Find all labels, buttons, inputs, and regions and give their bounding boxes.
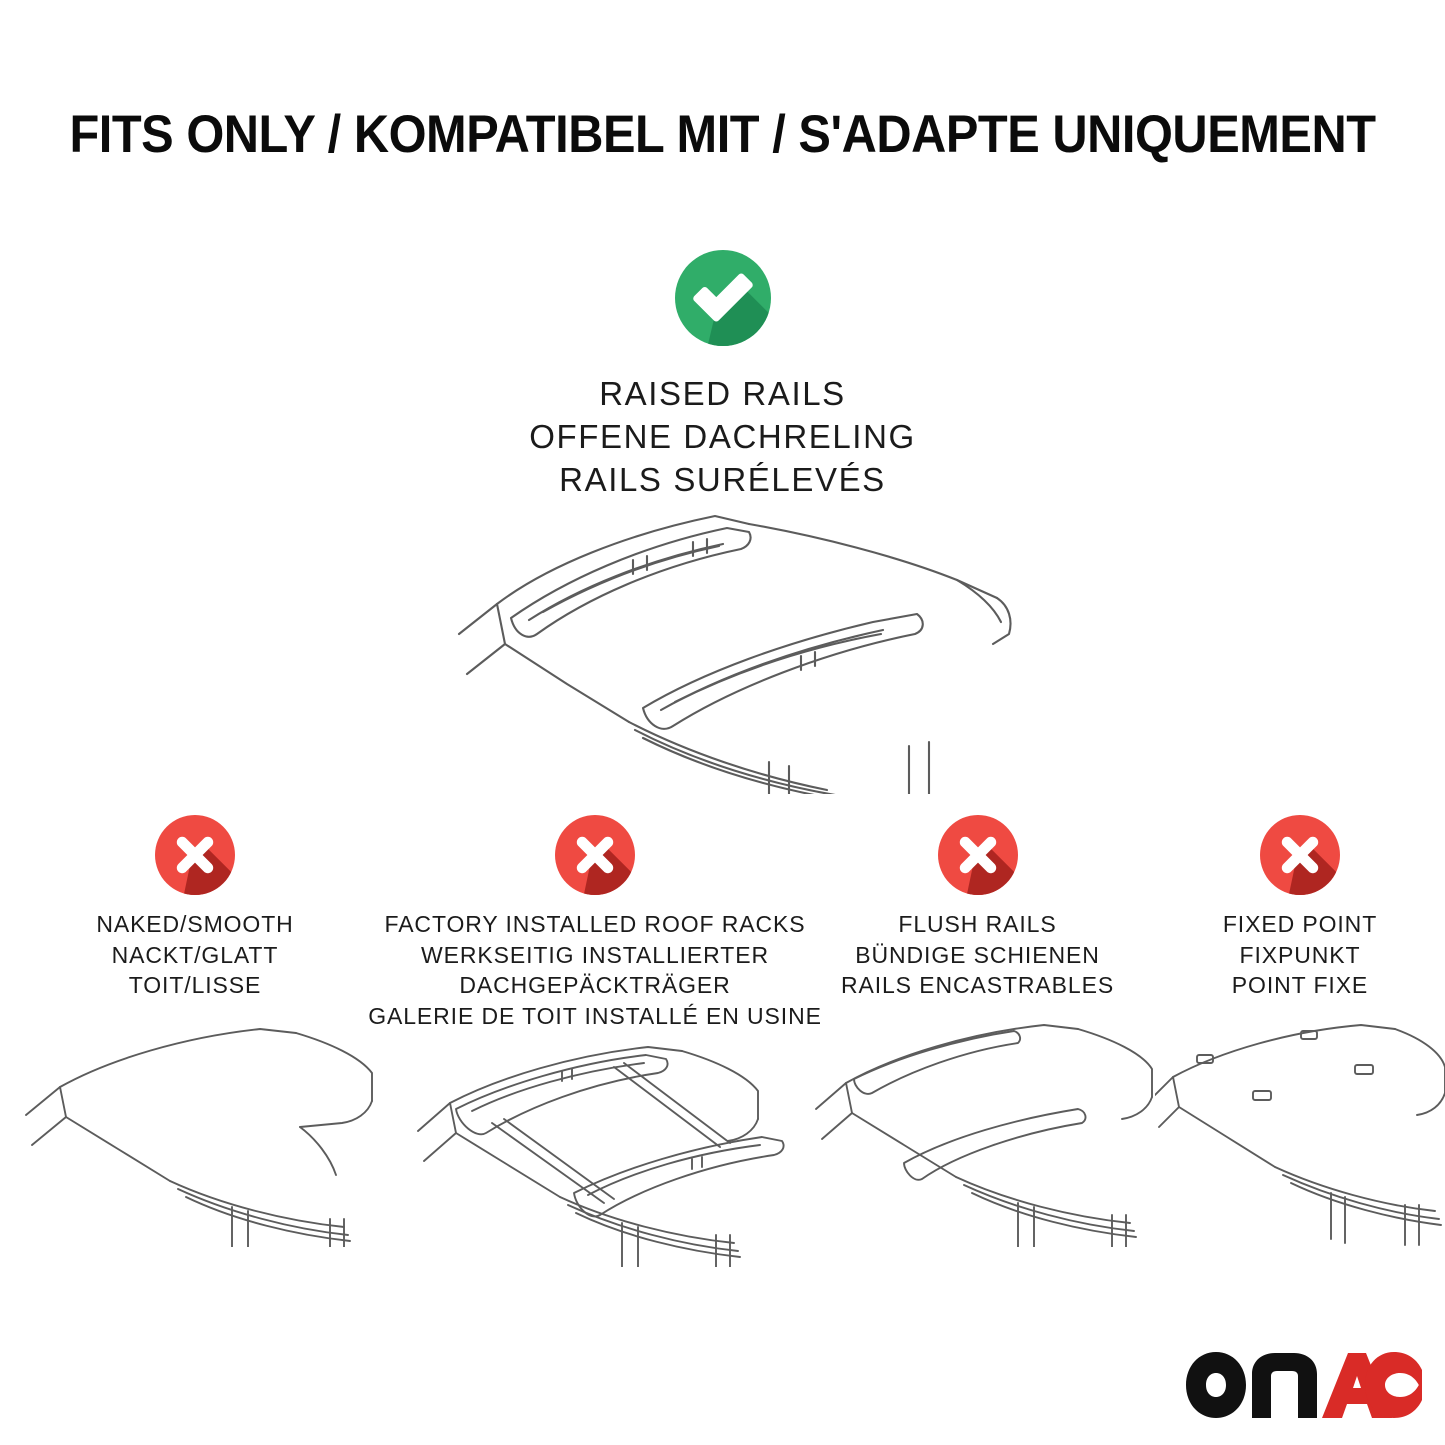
approved-label-en: RAISED RAILS — [529, 372, 916, 415]
rejected-labels-naked-smooth: NAKED/SMOOTH NACKT/GLATT TOIT/LISSE — [96, 909, 293, 1001]
omac-logo — [1186, 1352, 1422, 1418]
x-circle-icon — [1260, 815, 1340, 895]
rejected-label-fr: RAILS ENCASTRABLES — [841, 970, 1114, 1001]
rejected-label-de: NACKT/GLATT — [96, 940, 293, 971]
rejected-label-de: FIXPUNKT — [1223, 940, 1377, 971]
rejected-labels-flush-rails: FLUSH RAILS BÜNDIGE SCHIENEN RAILS ENCAS… — [841, 909, 1114, 1001]
rejected-section-fixed-point: FIXED POINT FIXPUNKT POINT FIXE — [1155, 815, 1445, 1247]
rejected-label-en: FIXED POINT — [1223, 909, 1377, 940]
page-title: FITS ONLY / KOMPATIBEL MIT / S'ADAPTE UN… — [58, 104, 1387, 165]
rejected-section-flush-rails: FLUSH RAILS BÜNDIGE SCHIENEN RAILS ENCAS… — [800, 815, 1155, 1247]
rejected-label-fr: GALERIE DE TOIT INSTALLÉ EN USINE — [368, 1001, 822, 1032]
x-circle-icon — [155, 815, 235, 895]
rejected-labels-fixed-point: FIXED POINT FIXPUNKT POINT FIXE — [1223, 909, 1377, 1001]
car-roof-fixed-point-illustration — [1155, 1017, 1445, 1247]
rejected-label-en: FACTORY INSTALLED ROOF RACKS — [368, 909, 822, 940]
car-roof-with-raised-rails-illustration — [397, 494, 1037, 794]
x-circle-icon — [555, 815, 635, 895]
rejected-labels-factory-roof-racks: FACTORY INSTALLED ROOF RACKS WERKSEITIG … — [368, 909, 822, 1031]
approved-section: RAISED RAILS OFFENE DACHRELING RAILS SUR… — [0, 250, 1445, 502]
rejected-section-factory-roof-racks: FACTORY INSTALLED ROOF RACKS WERKSEITIG … — [390, 815, 800, 1267]
rejected-label-en: NAKED/SMOOTH — [96, 909, 293, 940]
car-roof-factory-roof-racks-illustration — [390, 1037, 800, 1267]
rejected-section-naked-smooth: NAKED/SMOOTH NACKT/GLATT TOIT/LISSE — [0, 815, 390, 1247]
rejected-label-fr: POINT FIXE — [1223, 970, 1377, 1001]
rejected-label-de-2: DACHGEPÄCKTRÄGER — [368, 970, 822, 1001]
rejected-sections: NAKED/SMOOTH NACKT/GLATT TOIT/LISSE — [0, 815, 1445, 1267]
product-compatibility-infographic: FITS ONLY / KOMPATIBEL MIT / S'ADAPTE UN… — [0, 0, 1445, 1445]
rejected-label-en: FLUSH RAILS — [841, 909, 1114, 940]
approved-label-de: OFFENE DACHRELING — [529, 415, 916, 458]
approved-labels: RAISED RAILS OFFENE DACHRELING RAILS SUR… — [529, 372, 916, 502]
check-circle-icon — [675, 250, 771, 346]
x-circle-icon — [938, 815, 1018, 895]
rejected-label-fr: TOIT/LISSE — [96, 970, 293, 1001]
car-roof-naked-smooth-illustration — [0, 1017, 390, 1247]
car-roof-flush-rails-illustration — [800, 1017, 1155, 1247]
rejected-label-de: BÜNDIGE SCHIENEN — [841, 940, 1114, 971]
rejected-label-de-1: WERKSEITIG INSTALLIERTER — [368, 940, 822, 971]
